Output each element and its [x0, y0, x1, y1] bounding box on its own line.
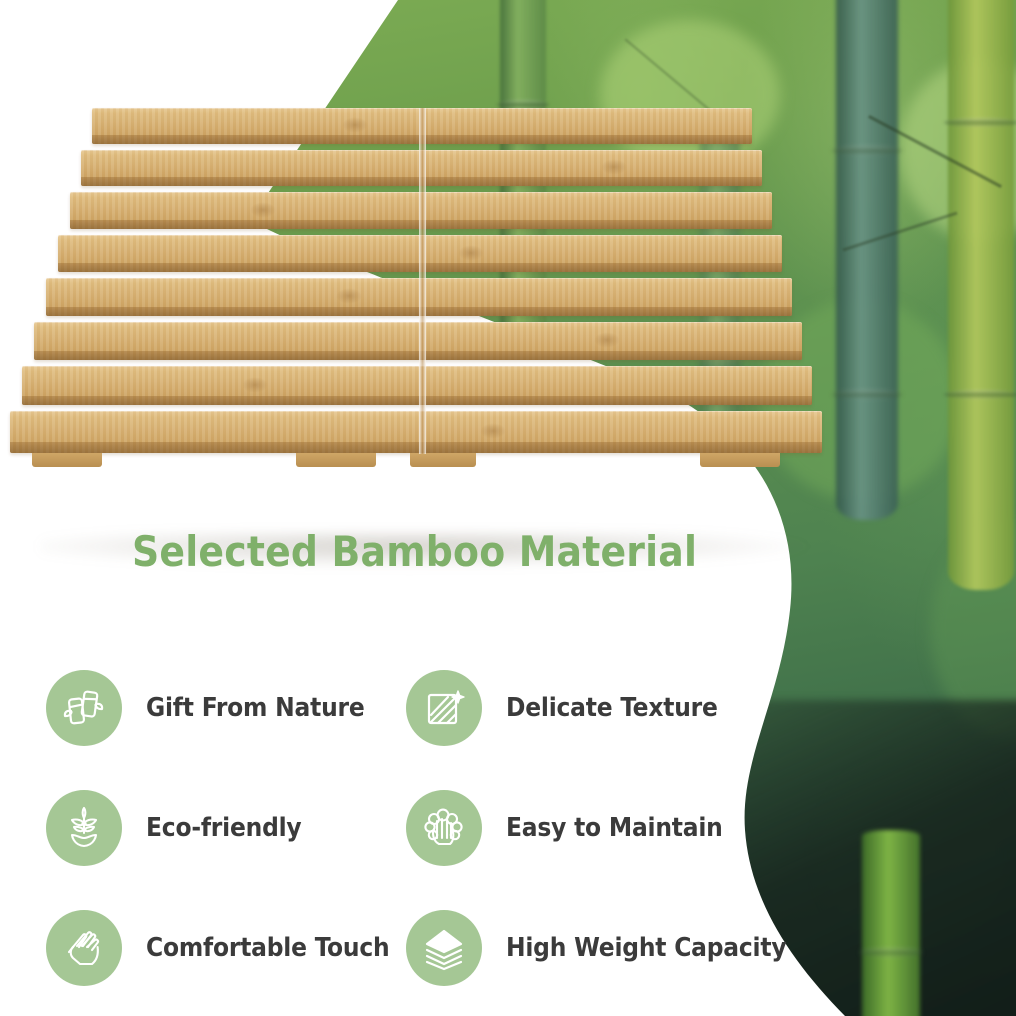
- page-title: Selected Bamboo Material: [132, 527, 697, 576]
- feature-label: Gift From Nature: [146, 693, 365, 723]
- mat-slat: [10, 411, 822, 453]
- bamboo-culm-icon: [862, 830, 920, 1016]
- mat-slat: [34, 322, 802, 360]
- plant-in-hand-icon: [46, 790, 122, 866]
- feature-label: High Weight Capacity: [506, 933, 786, 963]
- mat-slat: [22, 366, 812, 405]
- feature-row: Comfortable Touch High Weight Capacity: [46, 888, 866, 1008]
- bamboo-stalks-icon: [46, 670, 122, 746]
- bamboo-culm-icon: [948, 0, 1014, 590]
- feature-row: Eco-friendly: [46, 768, 866, 888]
- hand-touch-icon: [46, 910, 122, 986]
- feature-item-gift-from-nature[interactable]: Gift From Nature: [46, 670, 406, 746]
- mat-foot: [296, 453, 376, 467]
- feature-row: Gift From Nature Delicate Texture: [46, 648, 866, 768]
- feature-label: Delicate Texture: [506, 693, 718, 723]
- mat-foot: [700, 453, 780, 467]
- layer-stack-icon: [406, 910, 482, 986]
- hand-foam-icon: [406, 790, 482, 866]
- feature-item-comfortable-touch[interactable]: Comfortable Touch: [46, 910, 406, 986]
- bamboo-culm-icon: [836, 0, 898, 520]
- marketing-image-canvas: Selected Bamboo Material Gift From Natur…: [0, 0, 1016, 1016]
- feature-grid: Gift From Nature Delicate Texture: [46, 648, 866, 1008]
- feature-item-delicate-texture[interactable]: Delicate Texture: [406, 670, 846, 746]
- mat-foot: [410, 453, 476, 467]
- mat-center-seam: [419, 108, 426, 454]
- feature-label: Eco-friendly: [146, 813, 301, 843]
- feature-label: Easy to Maintain: [506, 813, 723, 843]
- sparkle-texture-icon: [406, 670, 482, 746]
- feature-item-eco-friendly[interactable]: Eco-friendly: [46, 790, 406, 866]
- feature-item-easy-to-maintain[interactable]: Easy to Maintain: [406, 790, 846, 866]
- bamboo-mat-product-image: [10, 108, 826, 438]
- mat-foot: [32, 453, 102, 467]
- feature-item-high-weight-capacity[interactable]: High Weight Capacity: [406, 910, 846, 986]
- feature-label: Comfortable Touch: [146, 933, 389, 963]
